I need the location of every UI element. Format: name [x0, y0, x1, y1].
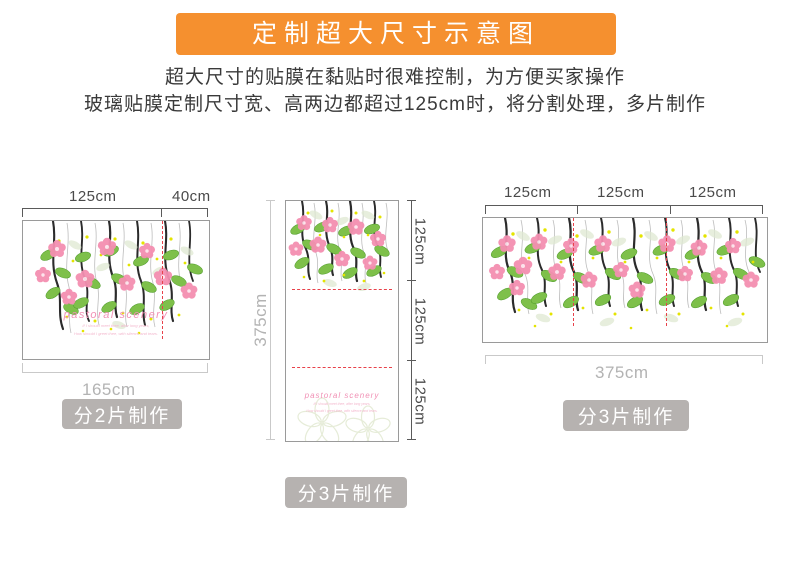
middle-cut-line-1 [292, 289, 392, 290]
middle-dim-seg-1: 125cm [412, 212, 429, 272]
brand-sub-2: How should I greet thee, with silence an… [285, 409, 399, 414]
page-root: 定制超大尺寸示意图 超大尺寸的贴膜在黏贴时很难控制，为方便买家操作 玻璃贴膜定制… [0, 0, 790, 586]
right-badge-3pieces: 分3片制作 [563, 400, 689, 431]
left-badge-2pieces: 分2片制作 [62, 399, 182, 429]
left-dim-165cm: 165cm [82, 380, 136, 400]
page-title-banner: 定制超大尺寸示意图 [176, 13, 616, 55]
brand-sub-1: If I should meet thee, after long years, [285, 402, 399, 407]
left-dim-125cm: 125cm [69, 188, 117, 205]
right-dim-seg-1: 125cm [504, 184, 552, 201]
floral-artwork-icon [483, 218, 767, 342]
page-title: 定制超大尺寸示意图 [252, 22, 540, 47]
middle-badge-3pieces: 分3片制作 [285, 477, 407, 508]
right-dim-375cm: 375cm [595, 363, 649, 383]
brand-name: pastoral scenery [285, 391, 399, 400]
left-panel-box: pastoral scenery If I should meet thee, … [22, 220, 210, 360]
middle-brand-text: pastoral scenery If I should meet thee, … [285, 391, 399, 413]
right-dim-seg-3: 125cm [689, 184, 737, 201]
right-cut-line-2 [666, 218, 667, 326]
middle-dim-seg-3: 125cm [412, 372, 429, 432]
middle-dim-375cm: 375cm [251, 290, 271, 350]
subtitle-line-2: 玻璃贴膜定制尺寸宽、高两边都超过125cm时，将分割处理，多片制作 [0, 91, 790, 118]
middle-panel-box: pastoral scenery If I should meet thee, … [285, 200, 399, 442]
floral-artwork-icon [23, 221, 209, 359]
right-panel-box [482, 217, 768, 343]
left-cut-line [162, 221, 163, 339]
middle-cut-line-2 [292, 367, 392, 368]
subtitle-block: 超大尺寸的贴膜在黏贴时很难控制，为方便买家操作 玻璃贴膜定制尺寸宽、高两边都超过… [0, 64, 790, 118]
right-dim-seg-2: 125cm [597, 184, 645, 201]
left-dim-40cm: 40cm [172, 188, 211, 205]
middle-dim-seg-2: 125cm [412, 292, 429, 352]
right-cut-line-1 [573, 218, 574, 326]
subtitle-line-1: 超大尺寸的贴膜在黏贴时很难控制，为方便买家操作 [0, 64, 790, 91]
